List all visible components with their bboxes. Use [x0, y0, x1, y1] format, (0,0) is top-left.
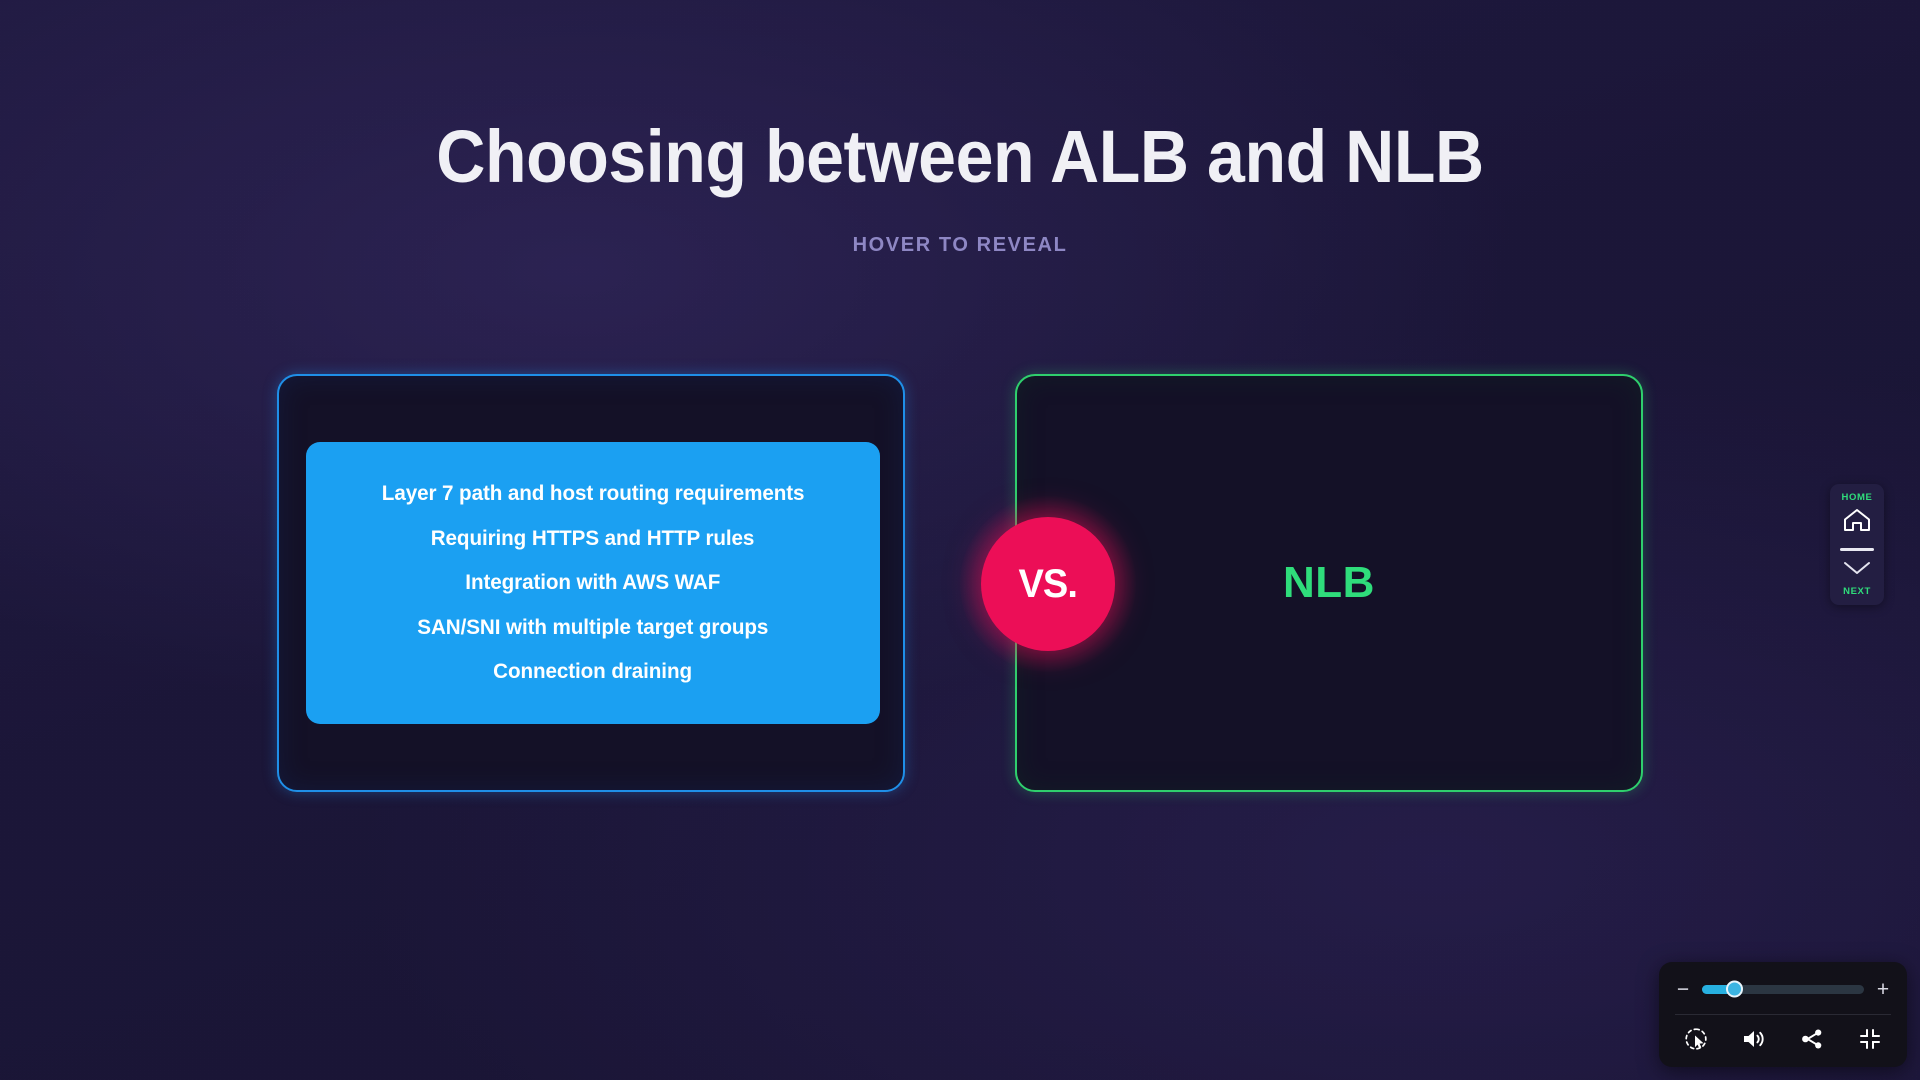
slide-header: Choosing between ALB and NLB HOVER TO RE…: [0, 118, 1920, 257]
side-nav-home-label: HOME: [1842, 492, 1873, 503]
list-item: Connection draining: [494, 660, 693, 684]
list-item: Integration with AWS WAF: [466, 571, 721, 595]
home-icon[interactable]: [1842, 507, 1872, 538]
side-nav-divider: [1840, 548, 1874, 551]
alb-reveal-panel: Layer 7 path and host routing requiremen…: [306, 442, 880, 724]
zoom-slider[interactable]: [1702, 985, 1864, 994]
collapse-icon[interactable]: [1853, 1023, 1887, 1055]
list-item: Requiring HTTPS and HTTP rules: [431, 527, 755, 551]
toolbar-divider: [1675, 1014, 1891, 1015]
vs-badge: VS.: [960, 496, 1136, 672]
chevron-down-icon[interactable]: [1841, 559, 1873, 582]
volume-icon[interactable]: [1737, 1023, 1771, 1055]
page-title: Choosing between ALB and NLB: [77, 118, 1843, 196]
slide-subtitle: HOVER TO REVEAL: [0, 234, 1920, 257]
toolbar-icon-row: [1675, 1023, 1891, 1055]
zoom-control-row: − +: [1675, 975, 1891, 1003]
bottom-toolbar: − +: [1659, 962, 1907, 1067]
comparison-card-alb[interactable]: Layer 7 path and host routing requiremen…: [277, 374, 905, 792]
side-navigation[interactable]: HOME NEXT: [1830, 484, 1884, 605]
zoom-slider-handle[interactable]: [1726, 981, 1743, 998]
zoom-in-button[interactable]: +: [1875, 979, 1891, 1000]
comparison-stage: Layer 7 path and host routing requiremen…: [277, 374, 1643, 792]
vs-badge-circle: VS.: [981, 517, 1115, 651]
pointer-select-icon[interactable]: [1679, 1023, 1713, 1055]
share-icon[interactable]: [1795, 1023, 1829, 1055]
list-item: Layer 7 path and host routing requiremen…: [382, 482, 805, 506]
side-nav-next-label: NEXT: [1843, 586, 1871, 597]
list-item: SAN/SNI with multiple target groups: [417, 616, 768, 640]
zoom-out-button[interactable]: −: [1675, 979, 1691, 1000]
vs-badge-label: VS.: [1019, 562, 1077, 607]
